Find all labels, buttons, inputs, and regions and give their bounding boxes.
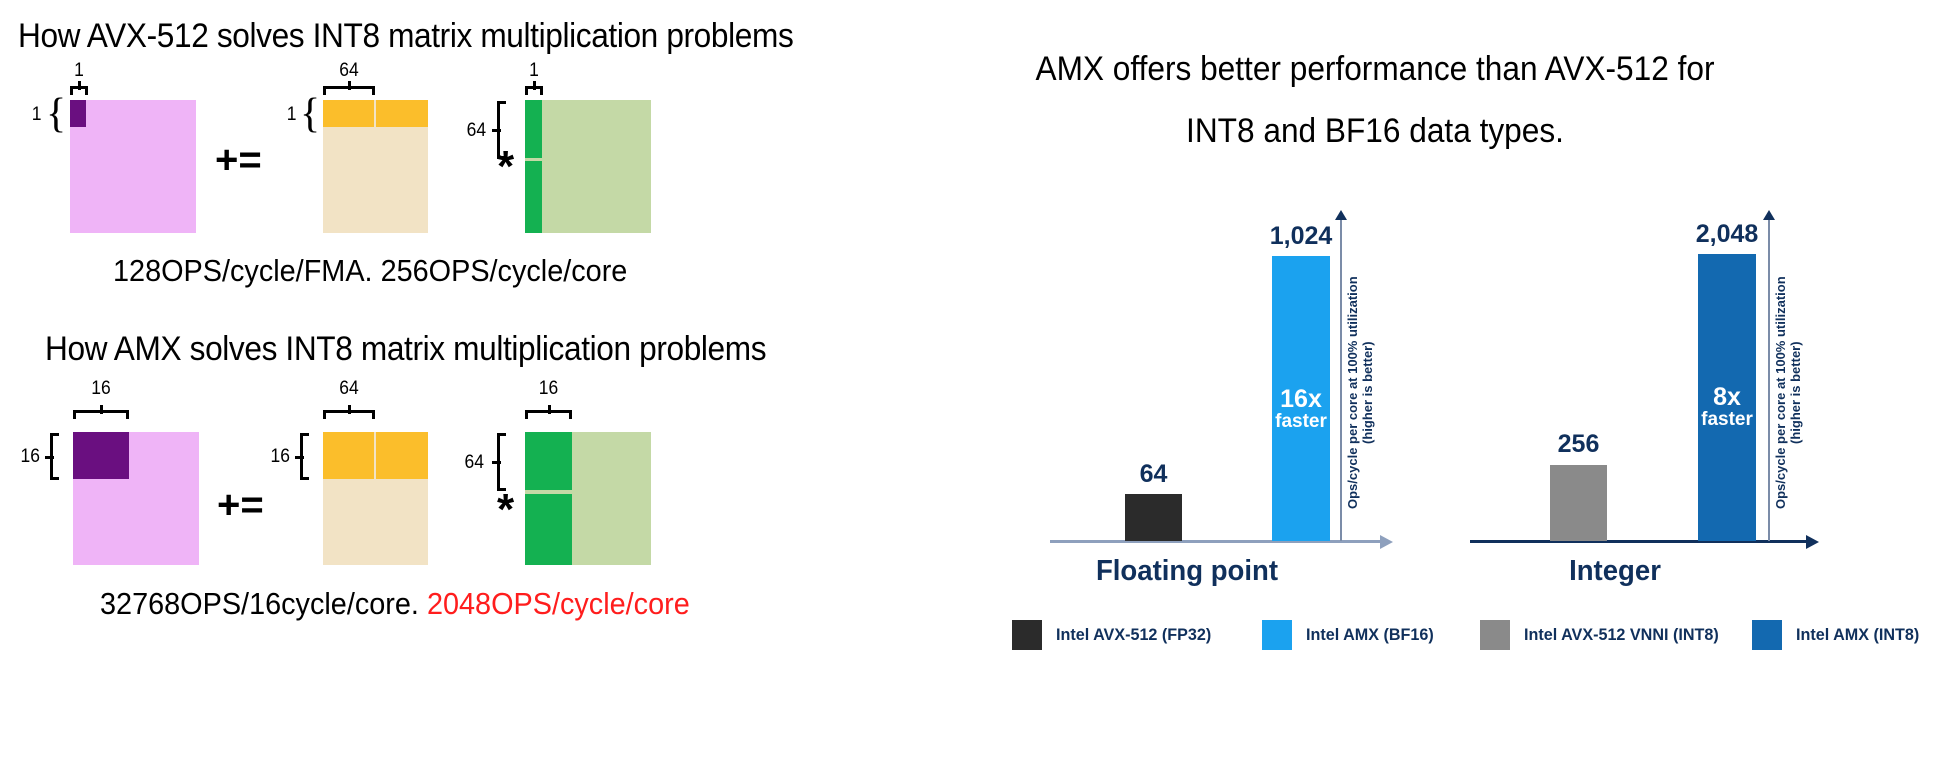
amx-accumulator-matrix — [73, 432, 199, 565]
avx-section-title: How AVX-512 solves INT8 matrix multiplic… — [18, 17, 793, 56]
amx-multiply-symbol: * — [497, 488, 514, 532]
bar-annotation-amx-bf16-multiplier: 16x — [1272, 386, 1330, 412]
avx-operand-b-active-upper — [525, 100, 542, 158]
bar-avx-512-vnni-int8 — [1550, 465, 1607, 541]
amx-c-rows-brace — [50, 433, 59, 480]
amx-throughput-plain: 32768OPS/16cycle/core. — [100, 586, 427, 621]
avx-b-cols-label: 1 — [526, 60, 543, 82]
amx-b-rows-brace — [497, 433, 506, 491]
amx-a-cols-brace — [323, 410, 375, 419]
chart1-y-axis-caption: Ops/cycle per core at 100% utilization (… — [1346, 250, 1376, 535]
chart-integer: 256 8x faster 2,048 Ops/cycle per core a… — [1460, 230, 1880, 630]
bar-amx-bf16: 16x faster — [1272, 256, 1330, 541]
avx-operand-b-matrix — [525, 100, 651, 233]
amx-c-cols-label: 16 — [75, 378, 127, 400]
chart2-y-axis — [1768, 218, 1770, 541]
bar-amx-int8: 8x faster — [1698, 254, 1756, 541]
chart-floating-point: 64 16x faster 1,024 Ops/cycle per core a… — [1040, 230, 1450, 630]
bar-value-amx-int8: 2,048 — [1686, 220, 1768, 249]
amx-operand-a-active-right — [376, 432, 428, 479]
chart1-y-axis-arrow-icon — [1335, 210, 1347, 220]
slide-canvas: How AVX-512 solves INT8 matrix multiplic… — [0, 0, 1940, 776]
chart2-x-axis-arrow-icon — [1806, 535, 1819, 549]
bar-value-avx-512-vnni-int8: 256 — [1545, 430, 1612, 459]
amx-accumulator-active-cell — [73, 432, 129, 479]
chart-heading-line1: AMX offers better performance than AVX-5… — [868, 50, 1882, 89]
legend-label-amx-int8: Intel AMX (INT8) — [1796, 625, 1919, 645]
amx-add-assign-symbol: += — [217, 485, 264, 525]
avx-b-rows-brace — [497, 101, 506, 159]
avx-throughput-caption: 128OPS/cycle/FMA. 256OPS/cycle/core — [113, 253, 627, 289]
bar-avx-512-fp32 — [1125, 494, 1182, 541]
chart-heading-line2: INT8 and BF16 data types. — [868, 112, 1882, 151]
amx-a-cols-label: 64 — [325, 378, 373, 400]
avx-c-rows-brace: { — [46, 93, 66, 135]
legend-swatch-amx-bf16 — [1262, 620, 1292, 650]
bar-annotation-amx-bf16: 16x faster — [1272, 386, 1330, 432]
avx-a-rows-label: 1 — [284, 104, 297, 126]
chart2-category-label: Integer — [1449, 555, 1782, 588]
amx-operand-b-matrix — [525, 432, 651, 565]
bar-value-avx-512-fp32: 64 — [1125, 460, 1182, 489]
chart1-y-axis-caption-line2: (higher is better) — [1360, 341, 1375, 444]
avx-a-rows-brace: { — [300, 93, 320, 135]
bar-value-amx-bf16: 1,024 — [1262, 222, 1340, 251]
amx-a-rows-brace — [300, 433, 309, 480]
legend-item-avx-512-fp32[interactable]: Intel AVX-512 (FP32) — [1012, 620, 1219, 650]
avx-operand-a-active-left — [323, 100, 374, 127]
bar-annotation-amx-bf16-faster: faster — [1272, 412, 1330, 432]
legend-item-amx-bf16[interactable]: Intel AMX (BF16) — [1262, 620, 1440, 650]
amx-b-rows-label: 64 — [460, 452, 484, 474]
amx-a-rows-label: 16 — [266, 446, 290, 468]
avx-c-cols-label: 1 — [71, 60, 88, 82]
chart1-y-axis — [1340, 218, 1342, 541]
chart2-y-axis-caption-line1: Ops/cycle per core at 100% utilization — [1773, 276, 1788, 509]
chart2-y-axis-arrow-icon — [1763, 210, 1775, 220]
amx-operand-b-active-lower — [525, 494, 572, 565]
legend-label-amx-bf16: Intel AMX (BF16) — [1306, 625, 1434, 645]
avx-accumulator-active-cell — [70, 100, 86, 127]
avx-operand-b-active-lower — [525, 161, 542, 233]
amx-c-cols-brace — [73, 410, 129, 419]
chart2-y-axis-caption-line2: (higher is better) — [1788, 341, 1803, 444]
avx-b-cols-brace — [525, 86, 543, 95]
amx-operand-b-active-upper — [525, 432, 572, 490]
legend-label-avx-512-vnni-int8: Intel AVX-512 VNNI (INT8) — [1524, 625, 1719, 645]
legend-item-avx-512-vnni-int8[interactable]: Intel AVX-512 VNNI (INT8) — [1480, 620, 1729, 650]
chart2-x-axis — [1470, 540, 1808, 543]
legend-swatch-avx-512-vnni-int8 — [1480, 620, 1510, 650]
chart1-category-label: Floating point — [1021, 555, 1354, 588]
avx-c-rows-label: 1 — [29, 104, 42, 126]
amx-operand-a-active-left — [323, 432, 374, 479]
amx-throughput-caption: 32768OPS/16cycle/core. 2048OPS/cycle/cor… — [100, 586, 690, 622]
bar-annotation-amx-int8: 8x faster — [1698, 384, 1756, 430]
amx-throughput-highlight: 2048OPS/cycle/core — [427, 586, 690, 621]
chart1-x-axis — [1050, 540, 1382, 543]
avx-a-cols-label: 64 — [325, 60, 373, 82]
chart1-x-axis-arrow-icon — [1380, 535, 1393, 549]
legend-item-amx-int8[interactable]: Intel AMX (INT8) — [1752, 620, 1926, 650]
legend-label-avx-512-fp32: Intel AVX-512 (FP32) — [1056, 625, 1211, 645]
amx-operand-a-matrix — [323, 432, 428, 565]
avx-b-rows-label: 64 — [466, 120, 486, 142]
avx-operand-a-matrix — [323, 100, 428, 233]
legend-swatch-amx-int8 — [1752, 620, 1782, 650]
avx-c-cols-brace — [70, 86, 88, 95]
chart1-y-axis-caption-line1: Ops/cycle per core at 100% utilization — [1345, 276, 1360, 509]
amx-c-rows-label: 16 — [16, 446, 40, 468]
avx-a-cols-brace — [323, 86, 375, 95]
amx-b-cols-brace — [525, 410, 572, 419]
avx-add-assign-symbol: += — [215, 140, 262, 180]
legend-swatch-avx-512-fp32 — [1012, 620, 1042, 650]
amx-b-cols-label: 16 — [527, 378, 570, 400]
chart2-y-axis-caption: Ops/cycle per core at 100% utilization (… — [1774, 250, 1804, 535]
avx-operand-a-active-right — [376, 100, 428, 127]
avx-accumulator-matrix — [70, 100, 196, 233]
bar-annotation-amx-int8-multiplier: 8x — [1698, 384, 1756, 410]
bar-annotation-amx-int8-faster: faster — [1698, 410, 1756, 430]
amx-section-title: How AMX solves INT8 matrix multiplicatio… — [45, 330, 766, 369]
